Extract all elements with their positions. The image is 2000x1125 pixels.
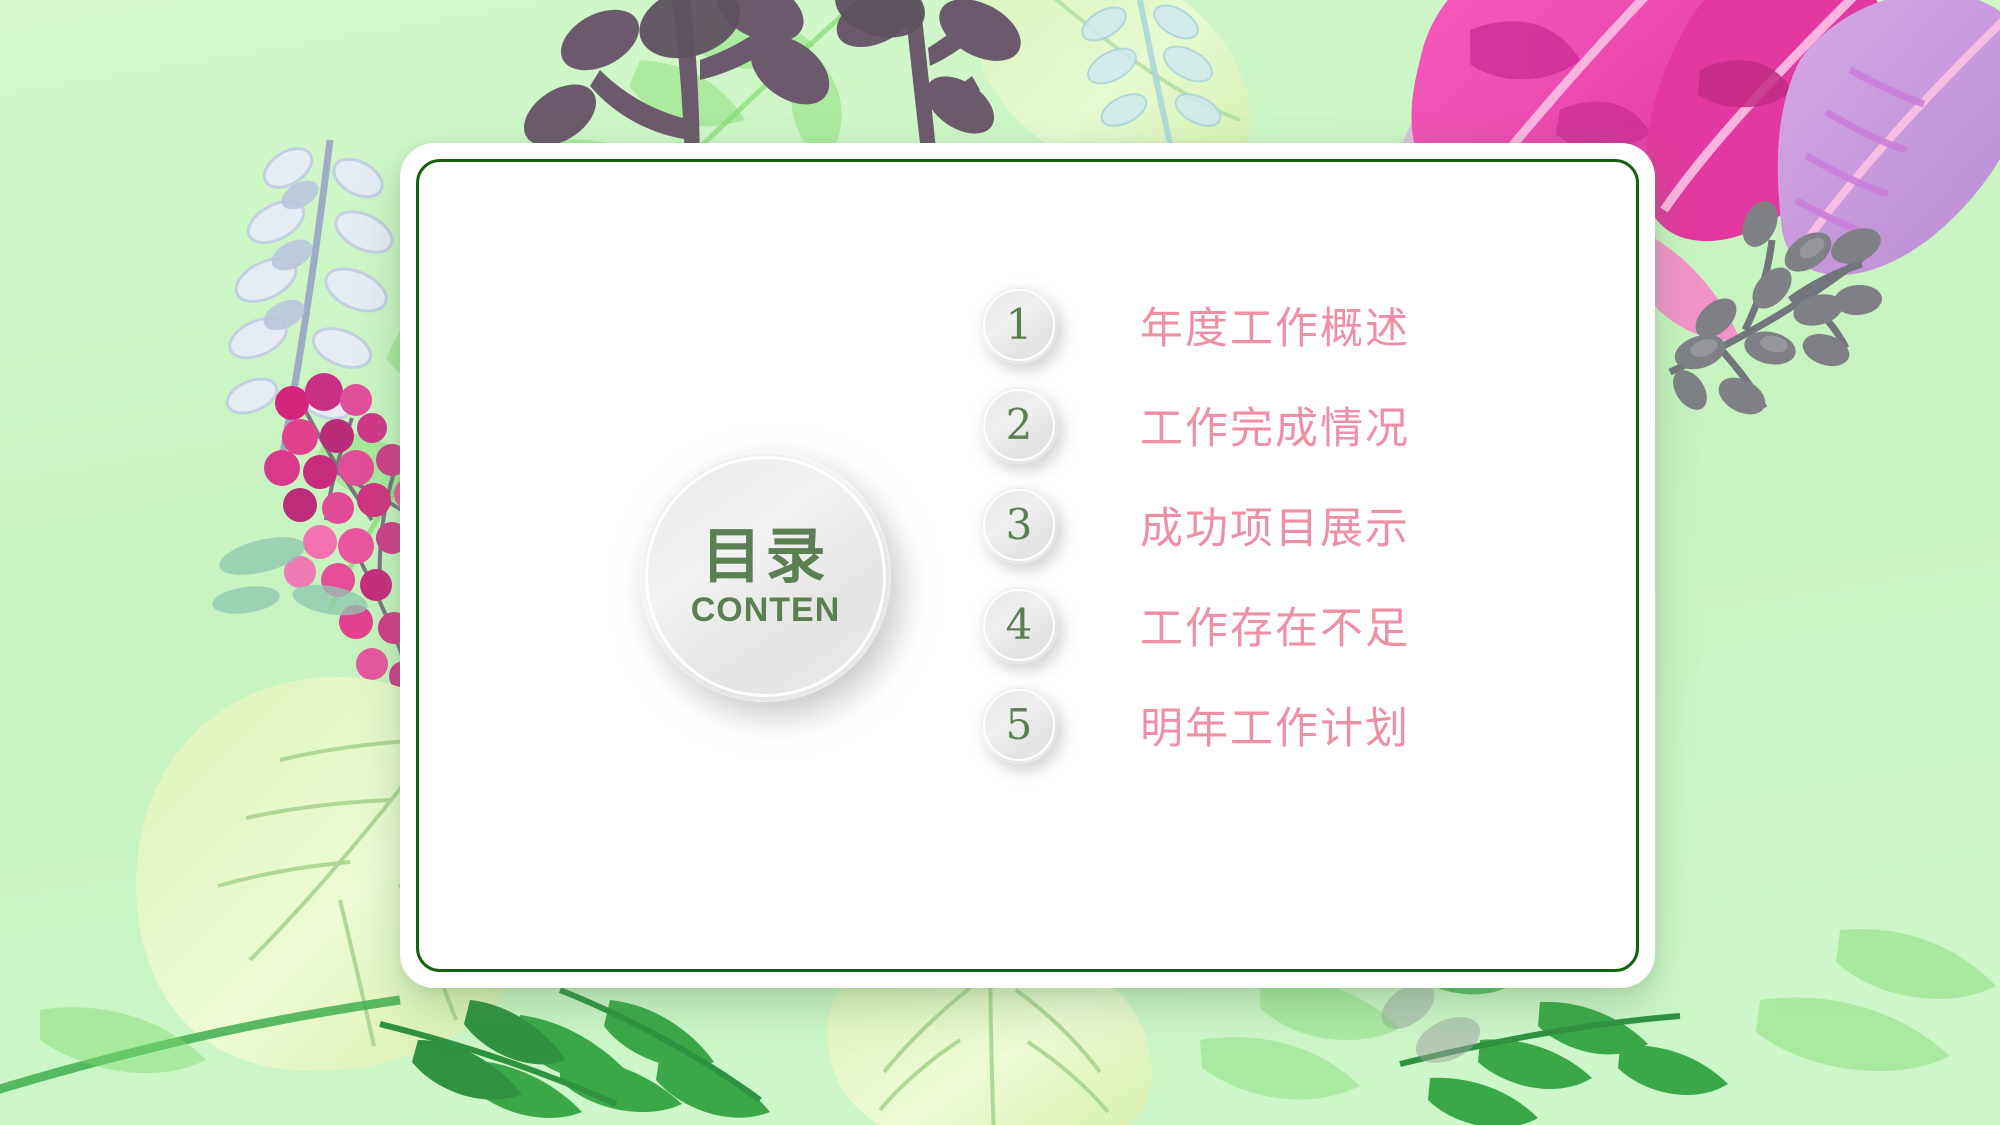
toc-number-3: 3 (1006, 504, 1033, 546)
slide-canvas: 目录 CONTEN 1 年度工作概述 2 工作完成情况 3 成功项目展示 4 (0, 0, 2000, 1125)
toc-item-2[interactable]: 2 工作完成情况 (980, 375, 1540, 475)
toc-item-5[interactable]: 5 明年工作计划 (980, 675, 1540, 775)
toc-number-badge-1[interactable]: 1 (980, 286, 1058, 364)
toc-number-badge-2[interactable]: 2 (980, 386, 1058, 464)
toc-number-2: 2 (1006, 404, 1033, 446)
toc-label-1: 年度工作概述 (1140, 294, 1410, 356)
toc-list: 1 年度工作概述 2 工作完成情况 3 成功项目展示 4 工作存在不足 5 (980, 275, 1540, 775)
toc-number-badge-4[interactable]: 4 (980, 586, 1058, 664)
toc-item-3[interactable]: 3 成功项目展示 (980, 475, 1540, 575)
toc-label-4: 工作存在不足 (1140, 594, 1410, 656)
toc-number-4: 4 (1006, 604, 1033, 646)
toc-number-5: 5 (1006, 704, 1033, 746)
toc-number-badge-5[interactable]: 5 (980, 686, 1058, 764)
badge-title-cn: 目录 (702, 527, 830, 587)
toc-item-4[interactable]: 4 工作存在不足 (980, 575, 1540, 675)
toc-label-2: 工作完成情况 (1140, 394, 1410, 456)
toc-number-1: 1 (1006, 304, 1033, 346)
content-badge: 目录 CONTEN (640, 451, 891, 702)
toc-number-badge-3[interactable]: 3 (980, 486, 1058, 564)
toc-item-1[interactable]: 1 年度工作概述 (980, 275, 1540, 375)
toc-label-3: 成功项目展示 (1140, 494, 1410, 556)
toc-label-5: 明年工作计划 (1140, 694, 1410, 756)
badge-title-en: CONTEN (691, 593, 841, 627)
